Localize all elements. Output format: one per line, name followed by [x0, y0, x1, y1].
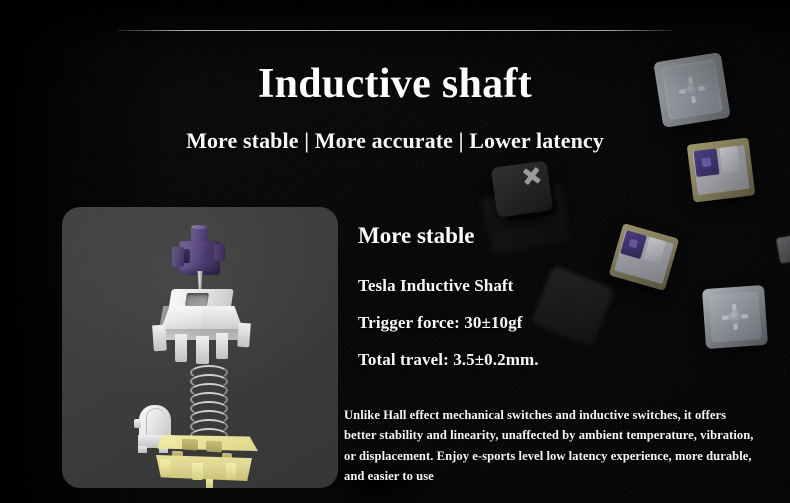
housing-leg: [216, 333, 228, 359]
slider-foot: [138, 446, 147, 453]
bottom-housing-ridge: [192, 463, 203, 480]
spec-item: Total travel: 3.5±0.2mm.: [358, 350, 758, 370]
stem-wing-right: [214, 244, 225, 261]
exploded-part-upper-housing: [140, 289, 264, 363]
slider-tab: [134, 419, 141, 428]
housing-stem-aperture: [185, 293, 209, 306]
page-title: Inductive shaft: [0, 60, 790, 108]
product-image-panel: [62, 207, 338, 488]
spec-list: Tesla Inductive Shaft Trigger force: 30±…: [358, 276, 758, 387]
housing-leg: [152, 325, 167, 352]
bottom-housing-pin: [206, 479, 213, 488]
bottom-housing-slot: [182, 439, 198, 451]
housing-leg: [237, 323, 251, 348]
slider-arc-line: [146, 408, 165, 435]
promo-page: Inductive shaft More stable | More accur…: [0, 0, 790, 503]
spec-item: Tesla Inductive Shaft: [358, 276, 758, 296]
bottom-housing-ridge: [160, 459, 170, 475]
top-divider-rule: [118, 30, 673, 31]
stem-wing-left: [172, 247, 184, 267]
page-subtitle: More stable | More accurate | Lower late…: [0, 128, 790, 154]
feature-description: Unlike Hall effect mechanical switches a…: [344, 405, 756, 487]
bottom-housing-ridge: [226, 463, 236, 479]
exploded-part-spring: [190, 365, 226, 445]
spec-item: Trigger force: 30±10gf: [358, 313, 758, 333]
bottom-housing-front: [156, 455, 252, 481]
housing-leg: [175, 334, 187, 362]
exploded-part-bottom-housing: [148, 435, 264, 488]
housing-leg: [196, 336, 209, 364]
bottom-housing-slot: [206, 441, 222, 453]
feature-heading: More stable: [358, 223, 474, 249]
exploded-part-purple-stem: [170, 225, 230, 287]
